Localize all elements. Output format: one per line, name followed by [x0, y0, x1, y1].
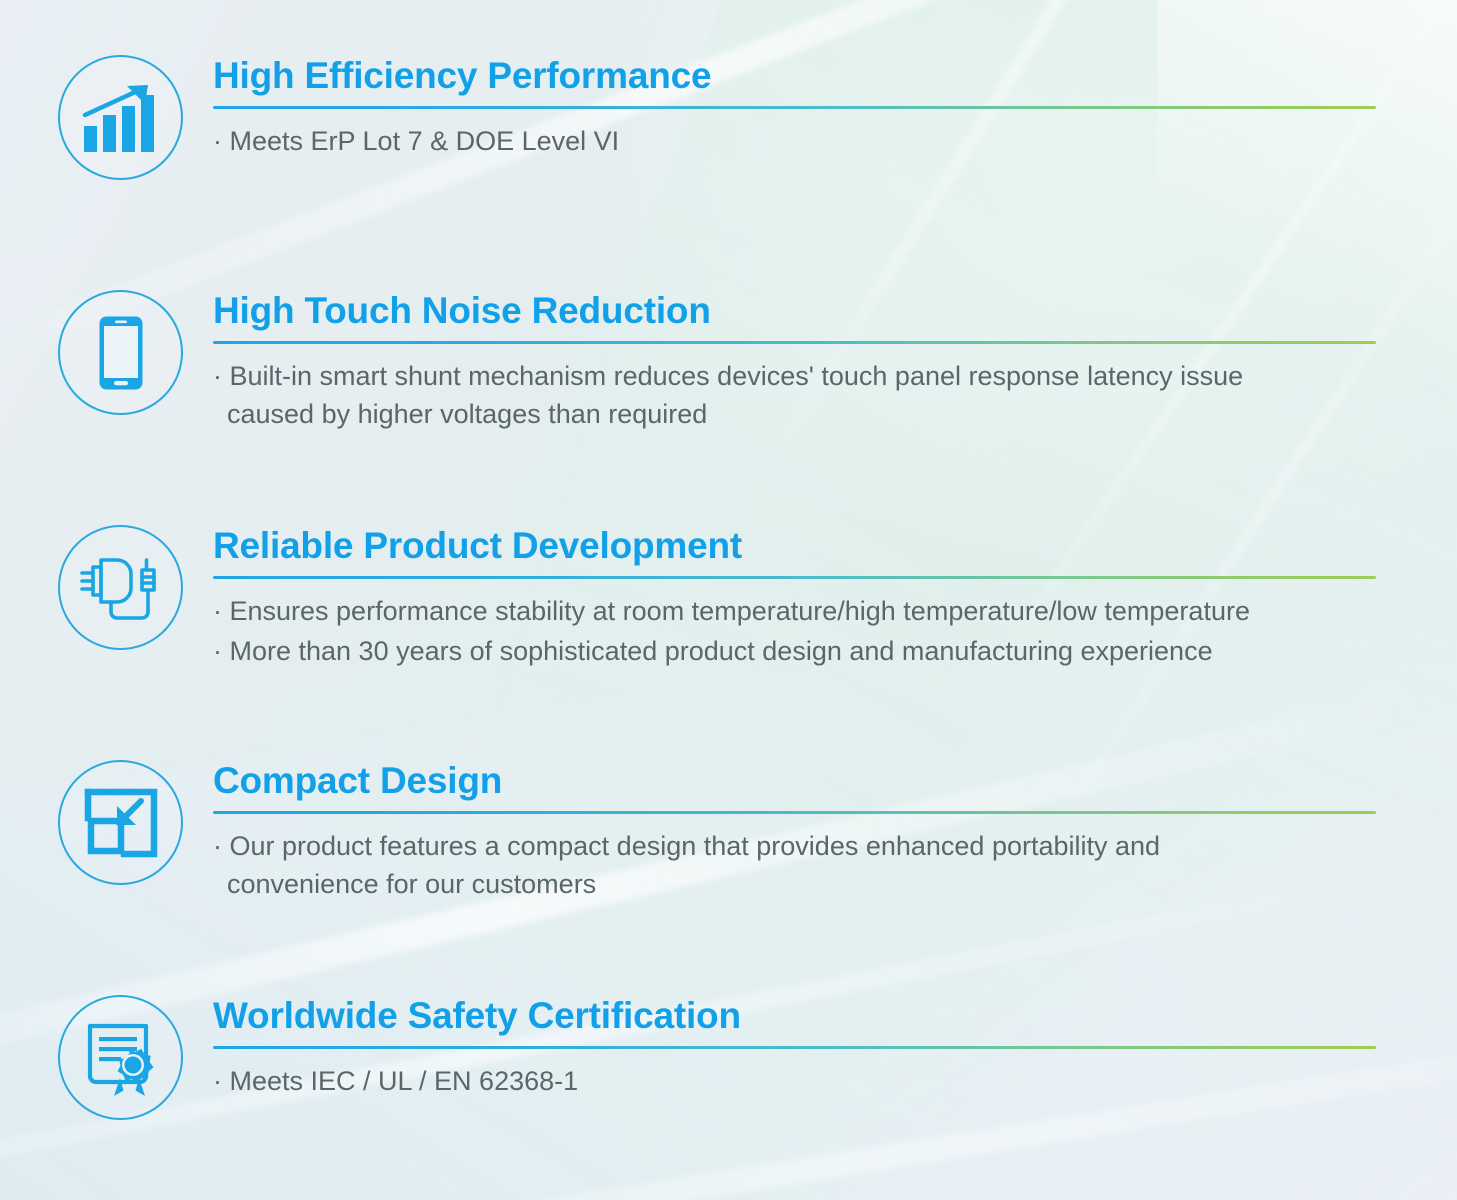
feature-bullet: · Our product features a compact design …	[213, 828, 1376, 904]
feature-bullets: · Ensures performance stability at room …	[213, 593, 1376, 671]
feature-title: High Touch Noise Reduction	[213, 292, 1376, 331]
feature-body: High Touch Noise Reduction · Built-in sm…	[213, 290, 1376, 433]
smartphone-icon	[58, 290, 183, 415]
feature-divider	[213, 106, 1376, 109]
feature-bullet: · More than 30 years of sophisticated pr…	[213, 633, 1376, 671]
feature-body: Reliable Product Development · Ensures p…	[213, 525, 1376, 670]
feature-title: Worldwide Safety Certification	[213, 997, 1376, 1036]
feature-bullets: · Built-in smart shunt mechanism reduces…	[213, 358, 1376, 434]
feature-bullet: · Meets ErP Lot 7 & DOE Level VI	[213, 123, 1376, 161]
feature-item-compact-design: Compact Design · Our product features a …	[58, 760, 1376, 903]
power-adapter-icon	[58, 525, 183, 650]
certificate-seal-icon	[58, 995, 183, 1120]
feature-bullets: · Our product features a compact design …	[213, 828, 1376, 904]
feature-bullet: · Ensures performance stability at room …	[213, 593, 1376, 631]
feature-body: Worldwide Safety Certification · Meets I…	[213, 995, 1376, 1101]
feature-divider	[213, 576, 1376, 579]
feature-bullet: · Built-in smart shunt mechanism reduces…	[213, 358, 1376, 434]
feature-title: Compact Design	[213, 762, 1376, 801]
feature-item-worldwide-safety-certification: Worldwide Safety Certification · Meets I…	[58, 995, 1376, 1120]
feature-bullets: · Meets IEC / UL / EN 62368-1	[213, 1063, 1376, 1101]
feature-title: Reliable Product Development	[213, 527, 1376, 566]
feature-body: High Efficiency Performance · Meets ErP …	[213, 55, 1376, 161]
feature-bullet: · Meets IEC / UL / EN 62368-1	[213, 1063, 1376, 1101]
feature-item-reliable-product-development: Reliable Product Development · Ensures p…	[58, 525, 1376, 670]
feature-item-high-efficiency-performance: High Efficiency Performance · Meets ErP …	[58, 55, 1376, 180]
feature-title: High Efficiency Performance	[213, 57, 1376, 96]
feature-item-high-touch-noise-reduction: High Touch Noise Reduction · Built-in sm…	[58, 290, 1376, 433]
bar-chart-growth-icon	[58, 55, 183, 180]
compact-resize-icon	[58, 760, 183, 885]
feature-divider	[213, 341, 1376, 344]
feature-highlights-page: High Efficiency Performance · Meets ErP …	[0, 0, 1457, 1200]
feature-divider	[213, 1046, 1376, 1049]
feature-body: Compact Design · Our product features a …	[213, 760, 1376, 903]
feature-divider	[213, 811, 1376, 814]
feature-bullets: · Meets ErP Lot 7 & DOE Level VI	[213, 123, 1376, 161]
